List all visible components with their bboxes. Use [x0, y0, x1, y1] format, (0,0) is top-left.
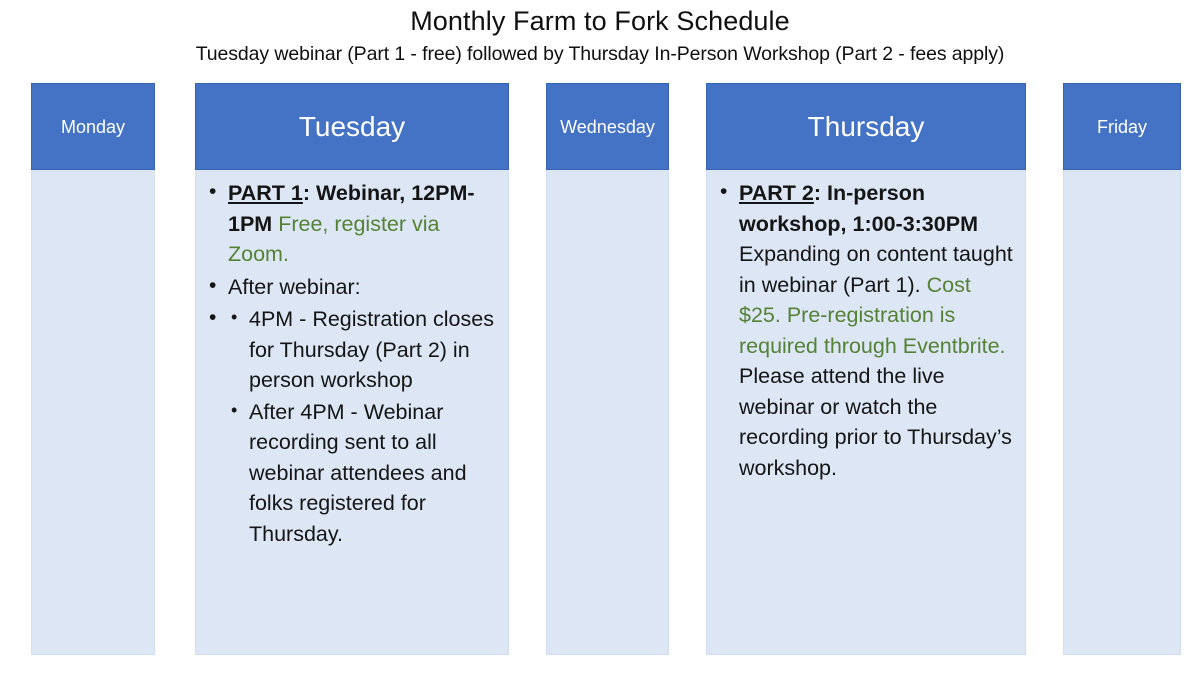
column-tuesday: Tuesday PART 1: Webinar, 12PM-1PM Free, …	[195, 83, 509, 655]
thursday-part2-label: PART 2	[739, 181, 814, 205]
day-label-monday: Monday	[57, 116, 129, 138]
column-header-wednesday: Wednesday	[546, 83, 669, 170]
thursday-part2-item: PART 2: In-person workshop, 1:00-3:30PM …	[717, 178, 1015, 483]
column-friday: Friday	[1063, 83, 1181, 655]
list-item: After 4PM - Webinar recording sent to al…	[228, 397, 498, 550]
column-header-monday: Monday	[31, 83, 155, 170]
tuesday-sub-list: 4PM - Registration closes for Thursday (…	[228, 304, 498, 549]
tuesday-bullet-list: PART 1: Webinar, 12PM-1PM Free, register…	[206, 178, 498, 549]
title-block: Monthly Farm to Fork Schedule Tuesday we…	[0, 4, 1200, 67]
day-label-friday: Friday	[1093, 116, 1151, 138]
tuesday-part1-label: PART 1	[228, 181, 303, 205]
tuesday-after-webinar-label: After webinar:	[228, 275, 361, 299]
day-label-wednesday: Wednesday	[556, 116, 659, 138]
thursday-part2-line2: workshop,	[739, 212, 847, 236]
thursday-body-before-green: Expanding on content taught in webinar (…	[739, 242, 1013, 297]
column-body-thursday: PART 2: In-person workshop, 1:00-3:30PM …	[706, 170, 1026, 655]
tuesday-sub-list-holder: 4PM - Registration closes for Thursday (…	[206, 304, 498, 549]
thursday-body-after-green: Please attend the live webinar or watch …	[739, 364, 1012, 480]
tuesday-part1-item: PART 1: Webinar, 12PM-1PM Free, register…	[206, 178, 498, 270]
day-label-tuesday: Tuesday	[295, 110, 409, 144]
column-header-friday: Friday	[1063, 83, 1181, 170]
column-body-friday	[1063, 170, 1181, 655]
page-title: Monthly Farm to Fork Schedule	[0, 4, 1200, 38]
column-body-tuesday: PART 1: Webinar, 12PM-1PM Free, register…	[195, 170, 509, 655]
thursday-part2-rest: : In-person	[814, 181, 925, 205]
page-subtitle: Tuesday webinar (Part 1 - free) followed…	[0, 41, 1200, 67]
thursday-part2-time: 1:00-3:30PM	[853, 212, 978, 236]
column-body-wednesday	[546, 170, 669, 655]
list-item: 4PM - Registration closes for Thursday (…	[228, 304, 498, 396]
weekday-columns: Monday Tuesday PART 1: Webinar, 12PM-1PM…	[0, 83, 1200, 658]
schedule-slide: Monthly Farm to Fork Schedule Tuesday we…	[0, 0, 1200, 673]
thursday-bullet-list: PART 2: In-person workshop, 1:00-3:30PM …	[717, 178, 1015, 483]
tuesday-part1-rest: : Webinar,	[303, 181, 405, 205]
column-thursday: Thursday PART 2: In-person workshop, 1:0…	[706, 83, 1026, 655]
column-monday: Monday	[31, 83, 155, 655]
day-label-thursday: Thursday	[804, 110, 929, 144]
column-header-thursday: Thursday	[706, 83, 1026, 170]
tuesday-after-webinar-item: After webinar:	[206, 272, 498, 303]
column-wednesday: Wednesday	[546, 83, 669, 655]
column-header-tuesday: Tuesday	[195, 83, 509, 170]
column-body-monday	[31, 170, 155, 655]
